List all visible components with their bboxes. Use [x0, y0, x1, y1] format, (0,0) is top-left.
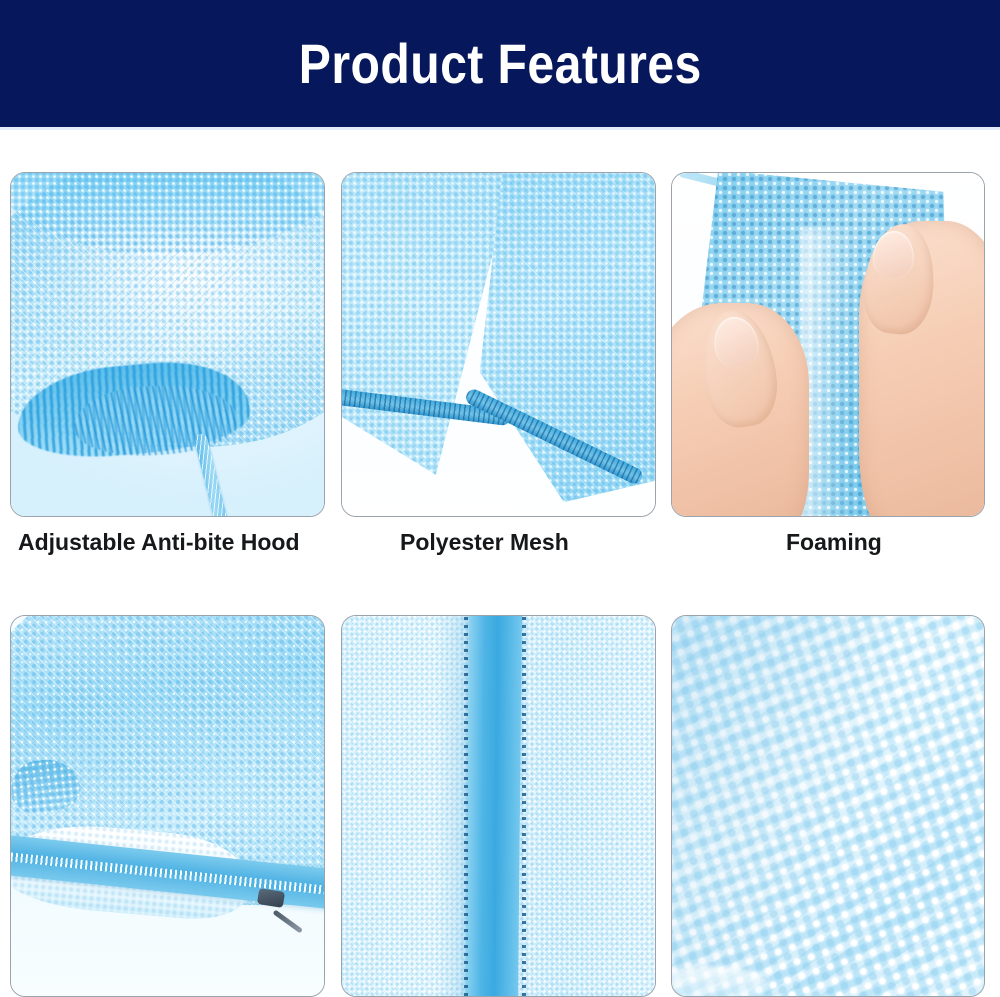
feature-image-polyester-mesh	[341, 172, 656, 517]
feature-grid: Adjustable Anti-bite Hood Polyester Mesh…	[0, 130, 1000, 530]
feature-row-bottom	[0, 560, 1000, 997]
macro-mesh-field	[672, 616, 984, 996]
mesh-dot-texture	[11, 757, 82, 817]
hood-photo	[11, 173, 324, 516]
polyester-mesh-photo	[342, 173, 655, 516]
fabric-fold-highlight	[801, 228, 861, 516]
product-features-page: Product Features	[0, 0, 1000, 967]
center-seam-photo	[342, 616, 655, 996]
caption-polyester-mesh: Polyester Mesh	[400, 528, 569, 556]
stitch-line-right	[522, 616, 526, 996]
foaming-hands-photo	[672, 173, 984, 516]
feature-image-center-seam	[341, 615, 656, 997]
caption-adjustable-anti-bite-hood: Adjustable Anti-bite Hood	[18, 528, 300, 556]
zipper-slider	[257, 888, 285, 908]
binding-strip	[465, 616, 522, 996]
feature-image-adjustable-anti-bite-hood	[10, 172, 325, 517]
macro-sheen	[672, 616, 890, 996]
caption-foaming: Foaming	[786, 528, 882, 556]
feature-image-mesh-macro	[671, 615, 985, 997]
page-title: Product Features	[299, 36, 702, 92]
side-mesh-vent	[11, 757, 82, 817]
feature-row-top	[0, 130, 1000, 530]
mesh-macro-photo	[672, 616, 984, 996]
hood-top-band	[11, 173, 324, 255]
mesh-dot-texture	[11, 173, 324, 255]
zipper-photo	[11, 616, 324, 996]
feature-image-foaming	[671, 172, 985, 517]
stitch-line-left	[464, 616, 468, 996]
header-banner: Product Features	[0, 0, 1000, 127]
feature-image-zipper-closure	[10, 615, 325, 997]
